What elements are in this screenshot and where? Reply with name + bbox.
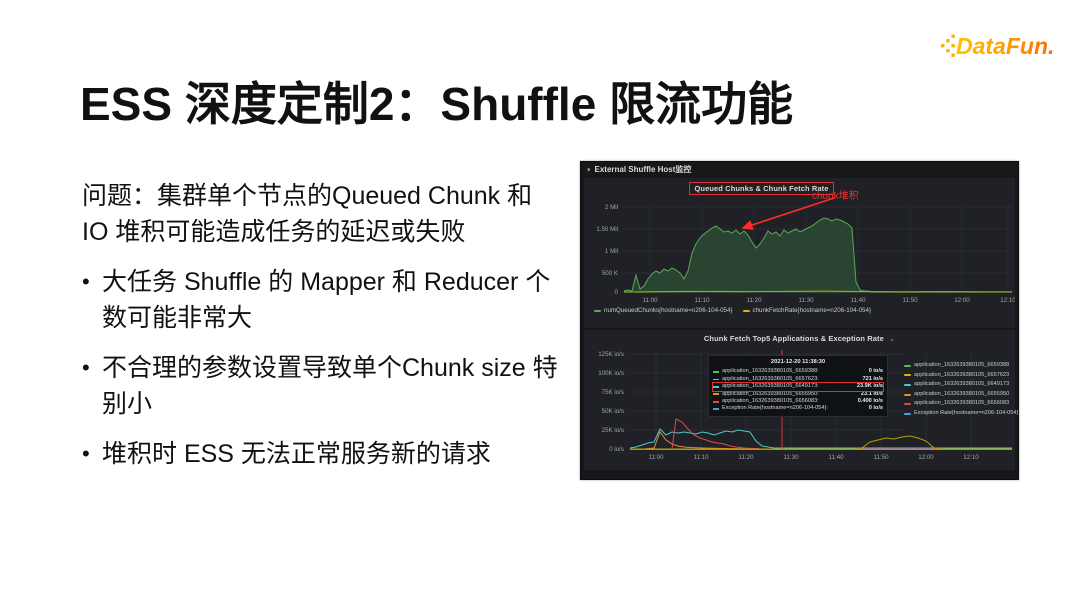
legend-swatch	[904, 365, 911, 367]
bullet-marker: •	[82, 436, 102, 472]
svg-text:DataFun.: DataFun.	[956, 33, 1054, 59]
chart-tooltip: 2021-12-20 11:38:30 application_16326393…	[708, 355, 888, 417]
grafana-dashboard-screenshot: ▾ External Shuffle Host监控 Queued Chunks …	[580, 161, 1019, 480]
svg-text:12:10: 12:10	[1000, 297, 1015, 304]
legend-label: chunkFetchRate{hostname=n206-104-054}	[753, 307, 872, 314]
tooltip-swatch	[713, 386, 719, 388]
legend-swatch-yellow	[743, 310, 750, 312]
chevron-down-icon[interactable]: ⌄	[889, 336, 895, 343]
panel1-legend: numQueuedChunks{hostname=n206-104-054} c…	[584, 305, 1015, 314]
plot-chunk-fetch-top5: 125K io/s 100K io/s 75K io/s 50K io/s 25…	[584, 345, 1015, 471]
bullet-text: 不合理的参数设置导致单个Chunk size 特别小	[102, 350, 562, 422]
svg-text:50K io/s: 50K io/s	[602, 408, 624, 415]
tooltip-row: Exception Rate{hostname=n206-104-054}: 0…	[713, 405, 883, 412]
tooltip-swatch	[713, 393, 719, 395]
tooltip-series-name: application_1632639380105_6659388:	[722, 368, 841, 375]
bullet-item-1: • 大任务 Shuffle 的 Mapper 和 Reducer 个数可能非常大	[82, 264, 562, 336]
legend-label: numQueuedChunks{hostname=n206-104-054}	[604, 307, 733, 314]
datafun-logo: DataFun.	[941, 30, 1063, 60]
svg-text:11:30: 11:30	[798, 297, 814, 304]
svg-text:12:00: 12:00	[954, 297, 970, 304]
tooltip-row: application_1632639380105_6657623: 721 i…	[713, 376, 883, 383]
svg-text:0 io/s: 0 io/s	[609, 446, 624, 453]
tooltip-row: application_1632639380105_6659388: 0 io/…	[713, 368, 883, 375]
plot-queued-chunks: 2 Mil 1.50 Mil 1 Mil 500 K 0 11:00 11:10…	[584, 193, 1015, 305]
svg-text:11:10: 11:10	[693, 454, 709, 461]
legend-label: Exception Rate{hostname=n206-104-054}	[914, 409, 1018, 419]
tooltip-series-name: application_1632639380105_6649173:	[722, 383, 841, 390]
bullet-item-2: • 不合理的参数设置导致单个Chunk size 特别小	[82, 350, 562, 422]
legend-item[interactable]: application_1632639380105_6656083	[904, 399, 1012, 409]
tooltip-row: application_1632639380105_6655950: 23.1 …	[713, 391, 883, 398]
svg-text:11:10: 11:10	[694, 297, 710, 304]
tooltip-series-name: application_1632639380105_6655950:	[722, 391, 841, 398]
legend-item[interactable]: application_1632639380105_6649173	[904, 380, 1012, 390]
svg-text:11:30: 11:30	[783, 454, 799, 461]
tooltip-swatch	[713, 379, 719, 381]
tooltip-series-name: application_1632639380105_6657623:	[722, 376, 841, 383]
tooltip-series-value: 0 io/s	[841, 368, 883, 375]
legend-item-numQueuedChunks[interactable]: numQueuedChunks{hostname=n206-104-054}	[594, 307, 733, 314]
svg-text:11:40: 11:40	[850, 297, 866, 304]
legend-swatch	[904, 403, 911, 405]
legend-item[interactable]: application_1632639380105_6657623	[904, 371, 1012, 381]
svg-text:0: 0	[615, 289, 619, 296]
svg-text:25K io/s: 25K io/s	[602, 427, 624, 434]
chevron-down-icon: ▾	[587, 166, 591, 174]
dashboard-row-header[interactable]: ▾ External Shuffle Host监控	[581, 162, 1018, 177]
svg-text:125K io/s: 125K io/s	[598, 351, 624, 358]
tooltip-series-value: 23.1 io/s	[841, 391, 883, 398]
tooltip-series-value: 721 io/s	[841, 376, 883, 383]
panel2-right-legend: application_1632639380105_6659388 applic…	[904, 361, 1012, 419]
legend-swatch	[904, 384, 911, 386]
tooltip-swatch	[713, 371, 719, 373]
svg-text:12:00: 12:00	[918, 454, 934, 461]
tooltip-swatch	[713, 401, 719, 403]
svg-text:75K io/s: 75K io/s	[602, 389, 624, 396]
svg-text:1 Mil: 1 Mil	[605, 248, 618, 255]
legend-swatch	[904, 374, 911, 376]
svg-text:11:20: 11:20	[746, 297, 762, 304]
legend-swatch	[904, 413, 911, 415]
panel-title-row: Queued Chunks & Chunk Fetch Rate	[584, 178, 1015, 193]
lead-paragraph: 问题：集群单个节点的Queued Chunk 和 IO 堆积可能造成任务的延迟或…	[82, 178, 562, 250]
page-title: ESS 深度定制2：Shuffle 限流功能	[80, 68, 940, 134]
tooltip-series-name: application_1632639380105_6656083:	[722, 398, 841, 405]
legend-swatch-green	[594, 310, 601, 312]
series-6655950-line	[630, 432, 1012, 449]
panel-chunk-fetch-top5: Chunk Fetch Top5 Applications & Exceptio…	[584, 330, 1015, 470]
legend-label: application_1632639380105_6659388	[914, 361, 1009, 371]
svg-text:11:20: 11:20	[738, 454, 754, 461]
panel-title-chunk-fetch-top5[interactable]: Chunk Fetch Top5 Applications & Exceptio…	[704, 334, 895, 343]
legend-item-chunkFetchRate[interactable]: chunkFetchRate{hostname=n206-104-054}	[743, 307, 872, 314]
panel-title-row-2: Chunk Fetch Top5 Applications & Exceptio…	[584, 330, 1015, 345]
tooltip-series-name: Exception Rate{hostname=n206-104-054}:	[722, 405, 841, 412]
series-6649173-line	[630, 429, 1012, 448]
svg-text:12:10: 12:10	[963, 454, 979, 461]
legend-item[interactable]: application_1632639380105_6655950	[904, 390, 1012, 400]
dashboard-row-label: External Shuffle Host监控	[595, 164, 692, 175]
svg-text:500 K: 500 K	[602, 270, 619, 277]
legend-label: application_1632639380105_6657623	[914, 371, 1009, 381]
svg-text:11:00: 11:00	[642, 297, 658, 304]
tooltip-series-value: 0.400 io/s	[841, 398, 883, 405]
legend-swatch	[904, 394, 911, 396]
content-column: 问题：集群单个节点的Queued Chunk 和 IO 堆积可能造成任务的延迟或…	[82, 178, 562, 486]
bullet-text: 堆积时 ESS 无法正常服务新的请求	[102, 436, 562, 472]
tooltip-row-highlighted: application_1632639380105_6649173: 23.9K…	[713, 383, 883, 390]
bullet-marker: •	[82, 350, 102, 422]
bullet-text: 大任务 Shuffle 的 Mapper 和 Reducer 个数可能非常大	[102, 264, 562, 336]
svg-text:11:00: 11:00	[648, 454, 664, 461]
svg-text:2 Mil: 2 Mil	[605, 204, 618, 211]
legend-label: application_1632639380105_6655950	[914, 390, 1009, 400]
panel-title-text: Chunk Fetch Top5 Applications & Exceptio…	[704, 334, 884, 343]
tooltip-swatch	[713, 408, 719, 410]
legend-item[interactable]: Exception Rate{hostname=n206-104-054}	[904, 409, 1012, 419]
bullet-marker: •	[82, 264, 102, 336]
svg-text:1.50 Mil: 1.50 Mil	[596, 226, 618, 233]
svg-text:11:40: 11:40	[828, 454, 844, 461]
legend-label: application_1632639380105_6649173	[914, 380, 1009, 390]
tooltip-timestamp: 2021-12-20 11:38:30	[713, 359, 883, 366]
tooltip-series-value: 0 io/s	[841, 405, 883, 412]
series-6656083-line	[630, 419, 1012, 449]
bullet-item-3: • 堆积时 ESS 无法正常服务新的请求	[82, 436, 562, 472]
annotation-arrow-icon	[734, 195, 844, 235]
legend-label: application_1632639380105_6656083	[914, 399, 1009, 409]
legend-item[interactable]: application_1632639380105_6659388	[904, 361, 1012, 371]
datafun-logo-mark: DataFun.	[941, 30, 1063, 60]
svg-text:11:50: 11:50	[873, 454, 889, 461]
panel-queued-chunks: Queued Chunks & Chunk Fetch Rate	[584, 178, 1015, 328]
tooltip-row: application_1632639380105_6656083: 0.400…	[713, 398, 883, 405]
svg-text:100K io/s: 100K io/s	[598, 370, 624, 377]
svg-text:11:50: 11:50	[902, 297, 918, 304]
tooltip-series-value: 23.9K io/s	[841, 383, 883, 390]
